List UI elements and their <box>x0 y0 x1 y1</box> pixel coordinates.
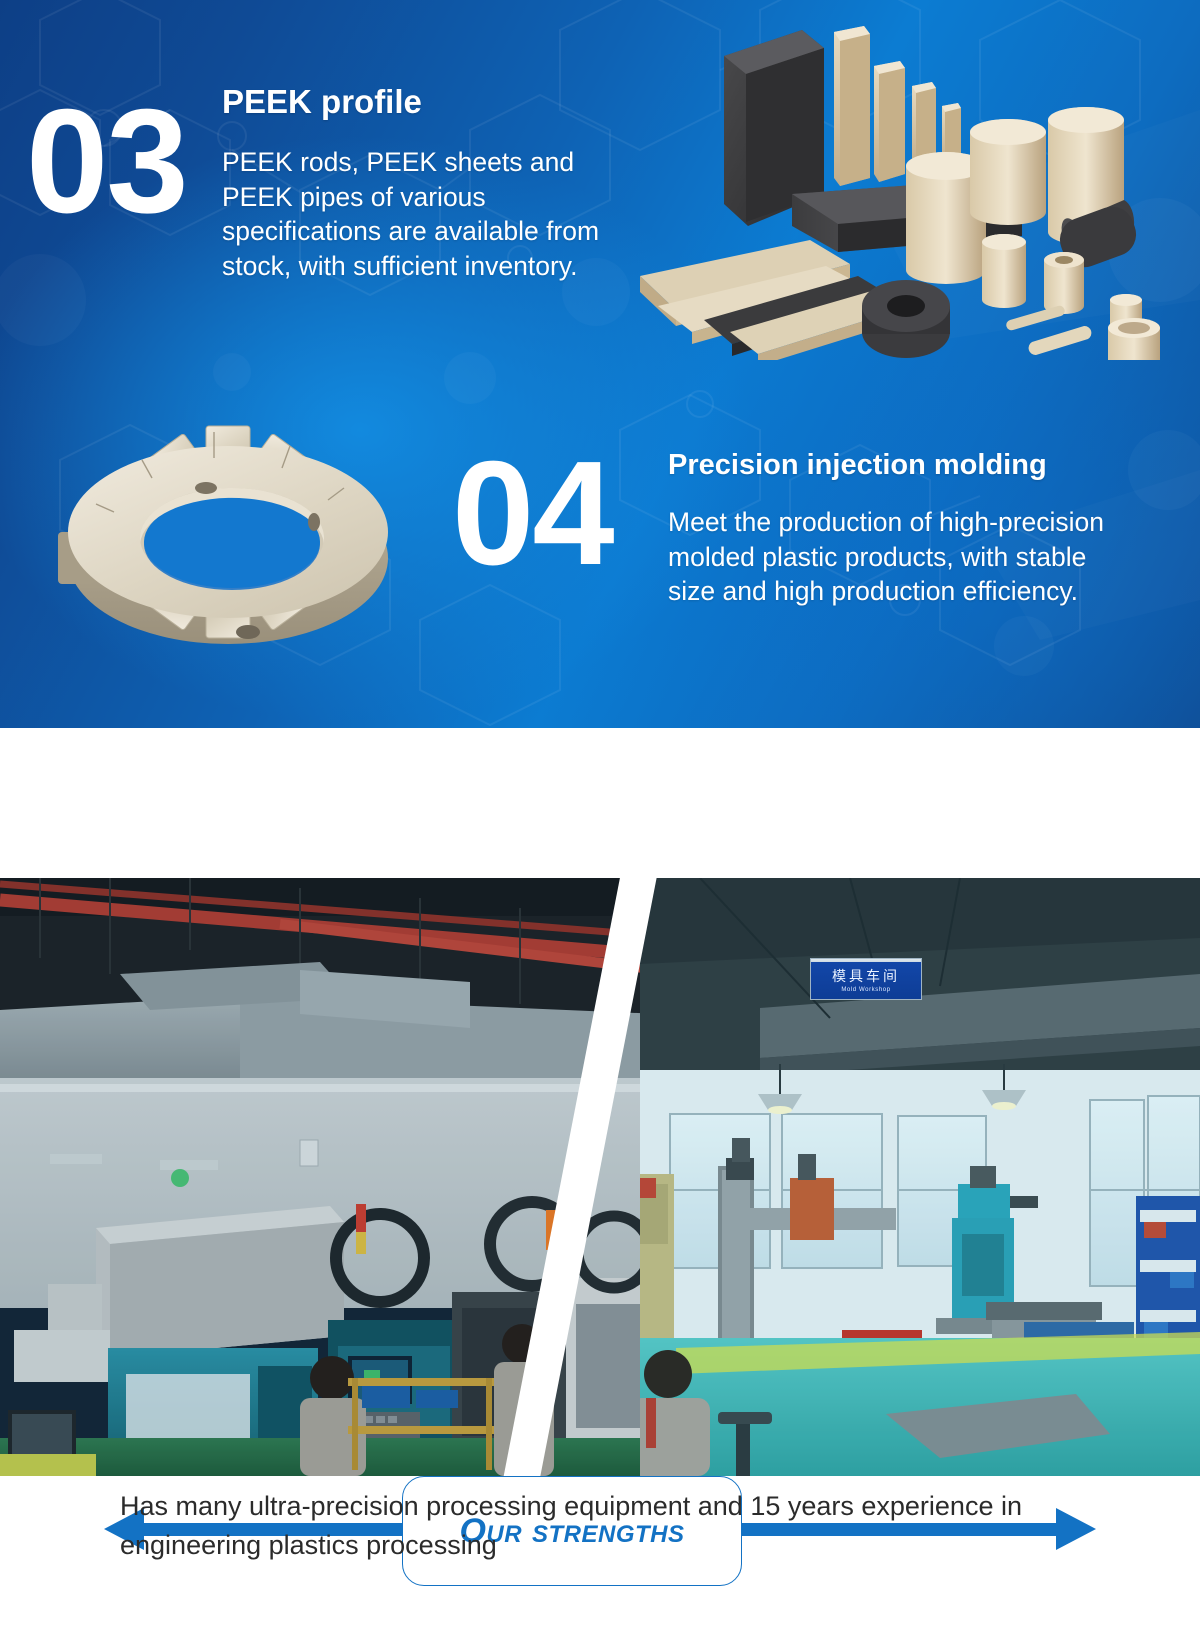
factory-photo-strip <box>0 878 1200 1476</box>
tan-cylinder-small-standing <box>982 234 1026 308</box>
block-title-04: Precision injection molding <box>668 450 1047 482</box>
block-title-03: PEEK profile <box>222 84 422 120</box>
tan-tube-hollow <box>1044 252 1084 314</box>
black-ring <box>862 280 950 358</box>
block-number-04: 04 <box>452 440 613 588</box>
bottom-caption: Has many ultra-precision processing equi… <box>120 1487 1100 1565</box>
peek-gear-ring-part-photo <box>28 392 428 672</box>
tan-thin-rods <box>1006 306 1091 355</box>
block-body-04: Meet the production of high-precision mo… <box>668 505 1118 609</box>
mold-workshop-sign-en: Mold Workshop <box>841 987 890 993</box>
tan-cylinder-large-upper <box>970 119 1046 225</box>
strengths-banner-section: Our strengths <box>0 728 1200 878</box>
mold-workshop-sign-cn: 模具车间 <box>832 970 900 984</box>
tan-tube-large-front <box>1108 318 1160 360</box>
hero-section: 03 PEEK profile PEEK rods, PEEK sheets a… <box>0 0 1200 728</box>
block-body-03: PEEK rods, PEEK sheets and PEEK pipes of… <box>222 145 652 284</box>
mold-workshop-sign: 模具车间 Mold Workshop <box>810 958 922 1000</box>
peek-profile-products-photo <box>612 14 1192 360</box>
block-number-03: 03 <box>26 88 187 236</box>
